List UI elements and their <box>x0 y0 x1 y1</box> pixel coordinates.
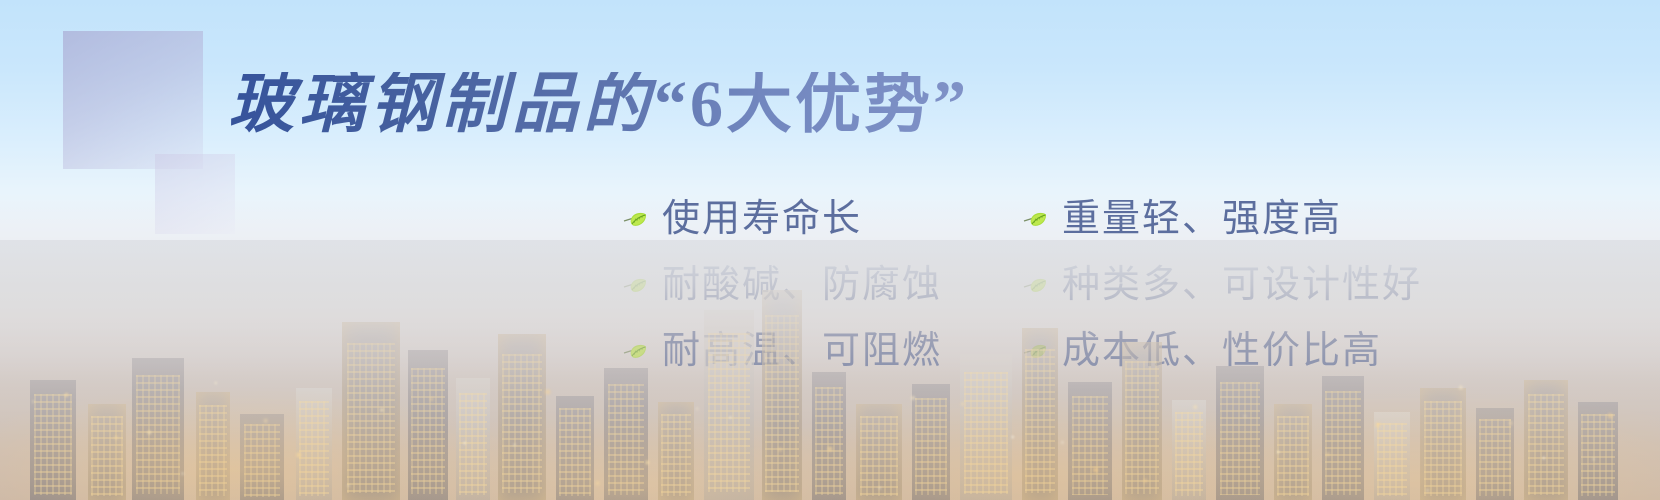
list-item: 使用寿命长 <box>622 186 1012 252</box>
decor-square-small <box>155 154 235 234</box>
decor-square-large <box>63 31 203 169</box>
leaf-icon <box>1022 342 1048 360</box>
list-item-label: 耐高温、可阻燃 <box>662 332 942 370</box>
promo-banner: 玻璃钢制品的“6大优势” 使用寿命长 重量轻、强度高 <box>0 0 1660 500</box>
leaf-icon <box>622 276 648 294</box>
list-item: 耐酸碱、防腐蚀 <box>622 252 1012 318</box>
list-item: 成本低、性价比高 <box>1022 318 1412 384</box>
leaf-icon <box>622 210 648 228</box>
page-title: 玻璃钢制品的“6大优势” <box>228 72 969 138</box>
leaf-icon <box>1022 276 1048 294</box>
page-title-highlight: “6大优势” <box>654 68 969 141</box>
list-item-label: 成本低、性价比高 <box>1062 332 1382 370</box>
list-item-label: 使用寿命长 <box>662 200 862 238</box>
page-title-prefix: 玻璃钢制品的 <box>228 68 654 141</box>
leaf-icon <box>622 342 648 360</box>
list-item-label: 种类多、可设计性好 <box>1062 266 1422 304</box>
list-item: 耐高温、可阻燃 <box>622 318 1012 384</box>
list-item-label: 耐酸碱、防腐蚀 <box>662 266 942 304</box>
feature-list: 使用寿命长 重量轻、强度高 耐酸碱、防腐蚀 <box>622 186 1442 384</box>
list-item: 重量轻、强度高 <box>1022 186 1412 252</box>
list-item: 种类多、可设计性好 <box>1022 252 1412 318</box>
leaf-icon <box>1022 210 1048 228</box>
list-item-label: 重量轻、强度高 <box>1062 200 1342 238</box>
